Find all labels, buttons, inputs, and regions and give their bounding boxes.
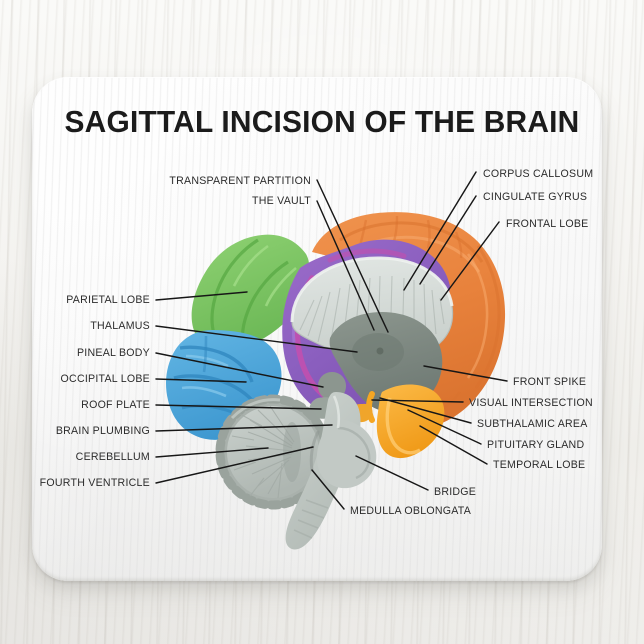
label-temporal-lobe: TEMPORAL LOBE xyxy=(493,459,585,471)
label-frontal-lobe: FRONTAL LOBE xyxy=(506,218,588,230)
label-the-vault: THE VAULT xyxy=(252,195,311,207)
screenshot-root: SAGITTAL INCISION OF THE BRAIN xyxy=(0,0,644,644)
label-subthalamic-area: SUBTHALAMIC AREA xyxy=(477,418,588,430)
label-thalamus: THALAMUS xyxy=(90,320,150,332)
label-transparent-partition: TRANSPARENT PARTITION xyxy=(169,175,311,187)
label-cerebellum: CEREBELLUM xyxy=(76,451,150,463)
label-cingulate-gyrus: CINGULATE GYRUS xyxy=(483,191,587,203)
label-bridge: BRIDGE xyxy=(434,486,476,498)
label-corpus-callosum: CORPUS CALLOSUM xyxy=(483,168,593,180)
label-medulla-oblongata: MEDULLA OBLONGATA xyxy=(350,505,471,517)
label-front-spike: FRONT SPIKE xyxy=(513,376,586,388)
label-roof-plate: ROOF PLATE xyxy=(81,399,150,411)
label-pineal-body: PINEAL BODY xyxy=(77,347,150,359)
label-pituitary-gland: PITUITARY GLAND xyxy=(487,439,584,451)
label-occipital-lobe: OCCIPITAL LOBE xyxy=(61,373,150,385)
label-brain-plumbing: BRAIN PLUMBING xyxy=(56,425,150,437)
label-parietal-lobe: PARIETAL LOBE xyxy=(66,294,150,306)
label-fourth-ventricle: FOURTH VENTRICLE xyxy=(40,477,150,489)
label-visual-intersection: VISUAL INTERSECTION xyxy=(469,397,593,409)
